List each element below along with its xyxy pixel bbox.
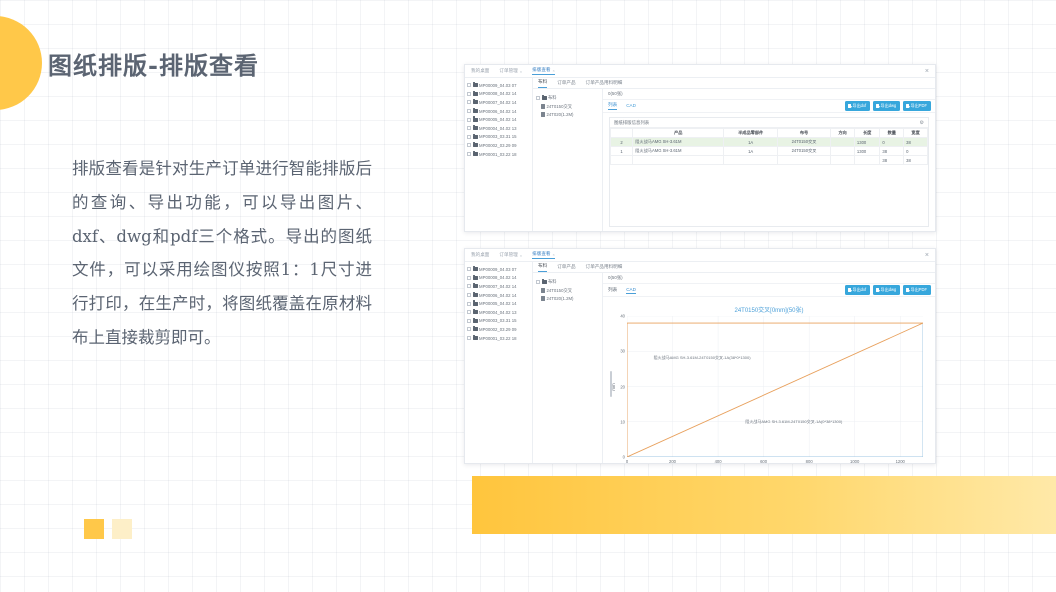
cell-product: 阻火战马AMG SH-3.61M (633, 147, 724, 156)
checkbox-icon[interactable] (467, 276, 471, 280)
tree-item[interactable]: MP00009_04.03 07 (467, 265, 530, 274)
tree-item-label: MP00004_04.02 13 (479, 126, 517, 131)
checkbox-icon[interactable] (467, 152, 471, 156)
cell-fabric-no: 24T0150交叉 (777, 147, 830, 156)
tree-item[interactable]: MP00004_04.02 13 (467, 124, 530, 133)
tree-item[interactable]: MP00009_04.03 07 (467, 81, 530, 90)
folder-icon (473, 143, 478, 147)
cell-product (633, 156, 724, 165)
file-icon (541, 296, 545, 301)
file-icon (541, 112, 545, 117)
export-dwg-button[interactable]: 导出dwg (873, 285, 901, 295)
fabric-tree-root-label: 布料 (548, 95, 557, 101)
cell-direction (831, 147, 855, 156)
chart-ytick: 10 (620, 419, 625, 424)
close-icon[interactable]: × (553, 68, 555, 73)
table-total-row: 38 38 (611, 156, 928, 165)
col-direction: 方向 (831, 129, 855, 138)
folder-icon (473, 100, 478, 104)
cell-index (611, 156, 633, 165)
tree-item-label: MP00002_03.29 09 (479, 143, 517, 148)
tree-item[interactable]: MP00006_04.02 14 (467, 291, 530, 300)
export-button-group: 导出dxf 导出dwg 导出PDF (845, 101, 931, 111)
export-dxf-button[interactable]: 导出dxf (845, 285, 871, 295)
file-export-icon (906, 104, 909, 108)
window-tab-label: 排版查看 (532, 251, 550, 257)
cell-product: 阻火战马AMG SH-3.61M (633, 138, 724, 147)
decorative-square-pale (112, 519, 132, 539)
layout-info-table-card: 图纸排版信息列表 ⚙ 产品 半成品零部件 布号 方向 (609, 117, 929, 227)
tree-item-label: MP00005_04.02 14 (479, 301, 517, 306)
chart-annotation-lower: 阻火战马AMG SH-3.61M-24T0150交叉-1A(0*38*1300) (745, 419, 842, 425)
chart-ytick: 40 (620, 314, 625, 319)
fabric-tree-item-label: 24T020(1.2M) (547, 112, 574, 117)
tree-item-label: MP00009_04.03 07 (479, 267, 517, 272)
checkbox-icon[interactable] (467, 92, 471, 96)
export-dwg-button[interactable]: 导出dwg (873, 101, 901, 111)
checkbox-icon[interactable] (467, 327, 471, 331)
folder-icon (473, 92, 478, 96)
cell-index: 2 (611, 138, 633, 147)
window-tab-label: 排版查看 (532, 67, 550, 73)
fabric-tree-panel: 布料 24T0150交叉 24T020(1.2M) (533, 89, 603, 231)
chart-ytick: 0 (623, 455, 625, 460)
folder-icon (473, 267, 478, 271)
window-tab-layout-view[interactable]: 排版查看 × (532, 251, 555, 259)
export-dxf-label: 导出dxf (852, 103, 866, 109)
checkbox-icon[interactable] (467, 135, 471, 139)
window-body: MP00009_04.03 07 MP00008_04.02 14 MP0000… (465, 262, 935, 463)
tree-item[interactable]: MP00008_04.02 14 (467, 274, 530, 283)
tree-item[interactable]: MP00002_03.29 09 (467, 325, 530, 334)
checkbox-icon[interactable] (467, 126, 471, 130)
cell-length: 1300 (854, 147, 879, 156)
screenshot-panel-cad-view: 我的桌面 订单管理 × 排版查看 × × MP00009_04.03 07 MP… (464, 248, 936, 464)
inner-wrap: 布料 24T0150交叉 24T020(1.2M) 0(50张) 列表 CAD … (533, 273, 935, 463)
checkbox-icon[interactable] (467, 302, 471, 306)
chart-annotation-upper: 阻火战马AMG SH-3.61M-24T0150交叉-1A(38*0*1300) (654, 355, 751, 361)
window-body: MP00009_04.03 07 MP00008_04.02 14 MP0000… (465, 78, 935, 231)
folder-icon (542, 280, 547, 284)
export-dxf-label: 导出dxf (852, 287, 866, 293)
window-tab-strip: 我的桌面 订单管理 × 排版查看 × × (465, 65, 935, 78)
cell-length (854, 156, 879, 165)
window-tab-label: 订单管理 (499, 68, 517, 74)
tree-item-label: MP00006_04.02 14 (479, 109, 517, 114)
col-length: 长度 (854, 129, 879, 138)
center-column: 布料 订单产品 订单产品用料明细 布料 24T0150交叉 24T020(1.2… (533, 78, 935, 231)
cell-width: 38 (904, 138, 928, 147)
window-close-icon[interactable]: × (925, 68, 929, 75)
tab-cad-view[interactable]: CAD (626, 103, 636, 109)
col-quantity: 数量 (880, 129, 904, 138)
tab-order-material-detail[interactable]: 订单产品用料明细 (586, 264, 623, 272)
folder-icon (473, 293, 478, 297)
screenshot-panel-list-view: 我的桌面 订单管理 × 排版查看 × × MP00009_04.03 07 MP… (464, 64, 936, 232)
cell-direction (831, 138, 855, 147)
order-tree-panel: MP00009_04.03 07 MP00008_04.02 14 MP0000… (465, 262, 533, 463)
window-tab-order-management[interactable]: 订单管理 × (499, 252, 522, 258)
sub-tab-strip: 布料 订单产品 订单产品用料明细 (533, 262, 935, 273)
folder-icon (542, 96, 547, 100)
checkbox-icon[interactable] (467, 100, 471, 104)
file-icon (541, 288, 545, 293)
fabric-tree-item-label: 24T020(1.2M) (547, 296, 574, 301)
folder-icon (473, 319, 478, 323)
page-title: 图纸排版-排版查看 (48, 46, 259, 81)
export-dwg-label: 导出dwg (881, 103, 897, 109)
checkbox-icon[interactable] (467, 118, 471, 122)
window-tab-desktop[interactable]: 我的桌面 (471, 68, 489, 74)
cell-quantity: 0 (880, 138, 904, 147)
table-row[interactable]: 2 阻火战马AMG SH-3.61M 1A 24T0150交叉 1300 0 3… (611, 138, 928, 147)
folder-icon (473, 83, 478, 87)
cell-component (724, 156, 778, 165)
decorative-circle (0, 16, 42, 110)
chart-xtick: 600 (760, 459, 767, 464)
checkbox-icon[interactable] (467, 109, 471, 113)
file-export-icon (848, 104, 851, 108)
tree-item-label: MP00001_03.22 18 (479, 336, 517, 341)
folder-icon (473, 302, 478, 306)
decorative-square-solid (84, 519, 104, 539)
export-button-group: 导出dxf 导出dwg 导出PDF (845, 285, 931, 295)
folder-icon (473, 276, 478, 280)
close-icon[interactable]: × (553, 252, 555, 257)
checkbox-icon[interactable] (467, 310, 471, 314)
folder-icon (473, 152, 478, 156)
tree-item-label: MP00007_04.02 14 (479, 284, 517, 289)
chart-ylabel: mm (611, 383, 616, 390)
tree-item-label: MP00002_03.29 09 (479, 327, 517, 332)
cell-fabric-no (777, 156, 830, 165)
center-column: 布料 订单产品 订单产品用料明细 布料 24T0150交叉 24T020(1.2… (533, 262, 935, 463)
tab-order-products[interactable]: 订单产品 (557, 264, 575, 272)
tree-item[interactable]: MP00005_04.02 14 (467, 299, 530, 308)
chart-ytick: 30 (620, 349, 625, 354)
expand-icon[interactable] (536, 280, 540, 284)
tab-list-view[interactable]: 列表 (608, 102, 617, 110)
window-tab-label: 订单管理 (499, 252, 517, 258)
fabric-tree-item[interactable]: 24T020(1.2M) (536, 295, 599, 303)
view-toolbar: 列表 CAD 导出dxf 导出dwg 导出PDF (603, 284, 935, 297)
tab-fabric[interactable]: 布料 (538, 79, 547, 88)
window-tab-label: 我的桌面 (471, 252, 489, 258)
tree-item[interactable]: MP00006_04.02 14 (467, 107, 530, 116)
tree-item[interactable]: MP00001_03.22 18 (467, 150, 530, 159)
chart-title: 24T0150交叉[0mm](50张) (609, 305, 929, 314)
col-index (611, 129, 633, 138)
close-icon[interactable]: × (520, 253, 522, 258)
tree-item[interactable]: MP00008_04.02 14 (467, 90, 530, 99)
cell-fabric-no: 24T0150交叉 (777, 138, 830, 147)
order-tree-panel: MP00009_04.03 07 MP00008_04.02 14 MP0000… (465, 78, 533, 231)
view-toolbar: 列表 CAD 导出dxf 导出dwg 导出PDF (603, 100, 935, 113)
tree-item[interactable]: MP00002_03.29 09 (467, 141, 530, 150)
chart-plot-area: mm mm 0 10 20 30 40 0 200 400 600 800 (627, 316, 923, 457)
expand-icon[interactable] (536, 96, 540, 100)
checkbox-icon[interactable] (467, 83, 471, 87)
tab-order-material-detail[interactable]: 订单产品用料明细 (586, 80, 623, 88)
chart-xtick: 200 (669, 459, 676, 464)
chart-xtick: 400 (715, 459, 722, 464)
file-export-icon (906, 288, 909, 292)
fabric-tree-item-label: 24T0150交叉 (547, 288, 573, 294)
close-icon[interactable]: × (520, 69, 522, 74)
layout-info-table: 产品 半成品零部件 布号 方向 长度 数量 宽度 (610, 128, 928, 165)
export-dxf-button[interactable]: 导出dxf (845, 101, 871, 111)
table-header-row: 产品 半成品零部件 布号 方向 长度 数量 宽度 (611, 129, 928, 138)
fabric-tree-panel: 布料 24T0150交叉 24T020(1.2M) (533, 273, 603, 463)
export-pdf-label: 导出PDF (911, 103, 927, 109)
table-caption-bar: 图纸排版信息列表 ⚙ (610, 118, 928, 128)
fabric-tree-item[interactable]: 24T0150交叉 (536, 102, 599, 110)
table-row[interactable]: 1 阻火战马AMG SH-3.61M 1A 24T0150交叉 1300 38 … (611, 147, 928, 156)
gear-icon[interactable]: ⚙ (920, 120, 924, 126)
window-tab-label: 我的桌面 (471, 68, 489, 74)
folder-icon (473, 135, 478, 139)
table-caption: 图纸排版信息列表 (614, 120, 649, 126)
window-tab-desktop[interactable]: 我的桌面 (471, 252, 489, 258)
checkbox-icon[interactable] (467, 319, 471, 323)
tree-item[interactable]: MP00007_04.02 14 (467, 282, 530, 291)
content-column: 0(50张) 列表 CAD 导出dxf 导出dwg 导出PDF 24T0150交… (603, 273, 935, 463)
chart-xtick: 800 (806, 459, 813, 464)
tree-item[interactable]: MP00004_04.02 13 (467, 308, 530, 317)
tree-item-label: MP00001_03.22 18 (479, 152, 517, 157)
col-width: 宽度 (904, 129, 928, 138)
content-column: 0(50张) 列表 CAD 导出dxf 导出dwg 导出PDF 图纸排版信息列表 (603, 89, 935, 231)
chart-ytick: 20 (620, 384, 625, 389)
inner-wrap: 布料 24T0150交叉 24T020(1.2M) 0(50张) 列表 CAD … (533, 89, 935, 231)
fabric-tree-item-label: 24T0150交叉 (547, 104, 573, 110)
window-tab-order-management[interactable]: 订单管理 × (499, 68, 522, 74)
tab-list-view[interactable]: 列表 (608, 287, 617, 294)
tree-item[interactable]: MP00001_03.22 18 (467, 334, 530, 343)
tree-item-label: MP00009_04.03 07 (479, 83, 517, 88)
chart-svg (627, 316, 923, 457)
sheet-count-label: 0(50张) (603, 89, 935, 100)
cell-width-total: 38 (904, 156, 928, 165)
cell-index: 1 (611, 147, 633, 156)
folder-icon (473, 310, 478, 314)
checkbox-icon[interactable] (467, 293, 471, 297)
sub-tab-strip: 布料 订单产品 订单产品用料明细 (533, 78, 935, 89)
file-export-icon (876, 288, 879, 292)
folder-icon (473, 327, 478, 331)
checkbox-icon[interactable] (467, 284, 471, 288)
tree-item-label: MP00004_04.02 13 (479, 310, 517, 315)
file-export-icon (848, 288, 851, 292)
checkbox-icon[interactable] (467, 143, 471, 147)
tree-item[interactable]: MP00007_04.02 14 (467, 98, 530, 107)
tree-item[interactable]: MP00005_04.02 14 (467, 115, 530, 124)
chart-xtick: 0 (626, 459, 628, 464)
tree-item-label: MP00007_04.02 14 (479, 100, 517, 105)
chart-xtick: 1200 (896, 459, 905, 464)
export-pdf-label: 导出PDF (911, 287, 927, 293)
cell-quantity: 38 (880, 147, 904, 156)
tree-item-label: MP00008_04.02 14 (479, 91, 517, 96)
tree-item[interactable]: MP00003_03.31 15 (467, 133, 530, 142)
window-tab-layout-view[interactable]: 排版查看 × (532, 67, 555, 75)
col-component: 半成品零部件 (724, 129, 778, 138)
cell-quantity-total: 38 (880, 156, 904, 165)
folder-icon (473, 284, 478, 288)
decorative-gradient-band (472, 476, 1056, 534)
export-pdf-button[interactable]: 导出PDF (903, 101, 931, 111)
tab-cad-view[interactable]: CAD (626, 287, 636, 294)
col-fabric-no: 布号 (777, 129, 830, 138)
cell-length: 1300 (854, 138, 879, 147)
fabric-tree-item[interactable]: 24T0150交叉 (536, 286, 599, 294)
sheet-count-label: 0(50张) (603, 273, 935, 284)
fabric-tree-item[interactable]: 24T020(1.2M) (536, 111, 599, 119)
tab-fabric[interactable]: 布料 (538, 263, 547, 272)
folder-icon (473, 336, 478, 340)
tree-item-label: MP00008_04.02 14 (479, 275, 517, 280)
folder-icon (473, 109, 478, 113)
export-pdf-button[interactable]: 导出PDF (903, 285, 931, 295)
folder-icon (473, 126, 478, 130)
col-product: 产品 (633, 129, 724, 138)
cell-width: 0 (904, 147, 928, 156)
export-dwg-label: 导出dwg (881, 287, 897, 293)
fabric-tree-root[interactable]: 布料 (536, 94, 599, 102)
fabric-tree-root-label: 布料 (548, 279, 557, 285)
body-paragraph: 排版查看是针对生产订单进行智能排版后的查询、导出功能，可以导出图片、dxf、dw… (72, 152, 372, 355)
fabric-tree-root[interactable]: 布料 (536, 278, 599, 286)
tree-item-label: MP00005_04.02 14 (479, 117, 517, 122)
cell-component: 1A (724, 147, 778, 156)
cell-direction (831, 156, 855, 165)
window-tab-strip: 我的桌面 订单管理 × 排版查看 × × (465, 249, 935, 262)
folder-icon (473, 118, 478, 122)
checkbox-icon[interactable] (467, 336, 471, 340)
chart-xtick: 1000 (850, 459, 859, 464)
file-export-icon (876, 104, 879, 108)
cad-chart-card: 24T0150交叉[0mm](50张) mm mm 0 10 20 30 40 … (609, 301, 929, 459)
window-close-icon[interactable]: × (925, 252, 929, 259)
cell-component: 1A (724, 138, 778, 147)
checkbox-icon[interactable] (467, 267, 471, 271)
tree-item-label: MP00003_03.31 15 (479, 134, 517, 139)
tree-item[interactable]: MP00003_03.31 15 (467, 317, 530, 326)
tab-order-products[interactable]: 订单产品 (557, 80, 575, 88)
tree-item-label: MP00006_04.02 14 (479, 293, 517, 298)
tree-item-label: MP00003_03.31 15 (479, 318, 517, 323)
file-icon (541, 104, 545, 109)
